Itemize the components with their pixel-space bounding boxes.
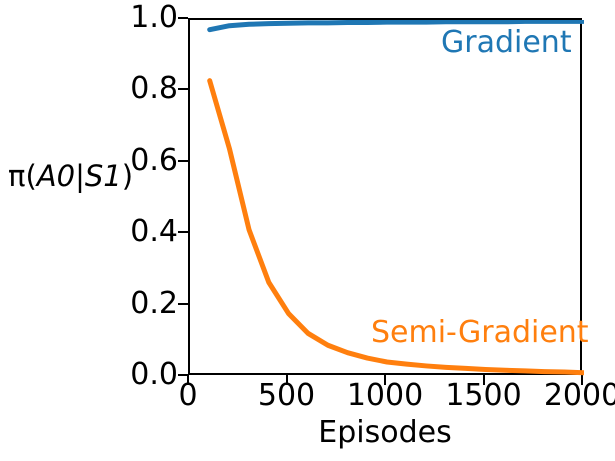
- x-axis-label: Episodes: [188, 418, 582, 448]
- y-tick-label: 0.4: [0, 217, 178, 247]
- y-tick-mark: [178, 160, 188, 162]
- series-annotation-gradient: Gradient: [441, 28, 572, 58]
- y-tick-label: 1.0: [0, 3, 178, 33]
- y-tick-mark: [178, 231, 188, 233]
- y-tick-mark: [178, 17, 188, 19]
- y-axis-label-a0: A0: [37, 159, 75, 193]
- y-tick-label: 0.0: [0, 360, 178, 390]
- y-axis-label-s1: S1: [85, 159, 122, 193]
- x-tick-label: 1000: [347, 381, 423, 411]
- series-annotation-semi-gradient: Semi-Gradient: [371, 318, 589, 348]
- x-tick-label: 500: [258, 381, 315, 411]
- y-axis-label-close: ): [122, 159, 133, 193]
- y-axis-label-pi: π(: [8, 159, 37, 193]
- y-tick-label: 0.8: [0, 74, 178, 104]
- x-tick-label: 1500: [445, 381, 521, 411]
- x-tick-label: 0: [178, 381, 197, 411]
- y-tick-mark: [178, 303, 188, 305]
- y-tick-label: 0.2: [0, 289, 178, 319]
- chart-figure: 0.00.20.40.60.81.0 0500100015002000 π(A0…: [0, 0, 615, 461]
- x-tick-mark: [187, 375, 189, 385]
- y-axis-label-bar: |: [75, 159, 85, 193]
- y-axis-label: π(A0|S1): [8, 162, 133, 191]
- x-tick-label: 2000: [544, 381, 615, 411]
- y-tick-mark: [178, 88, 188, 90]
